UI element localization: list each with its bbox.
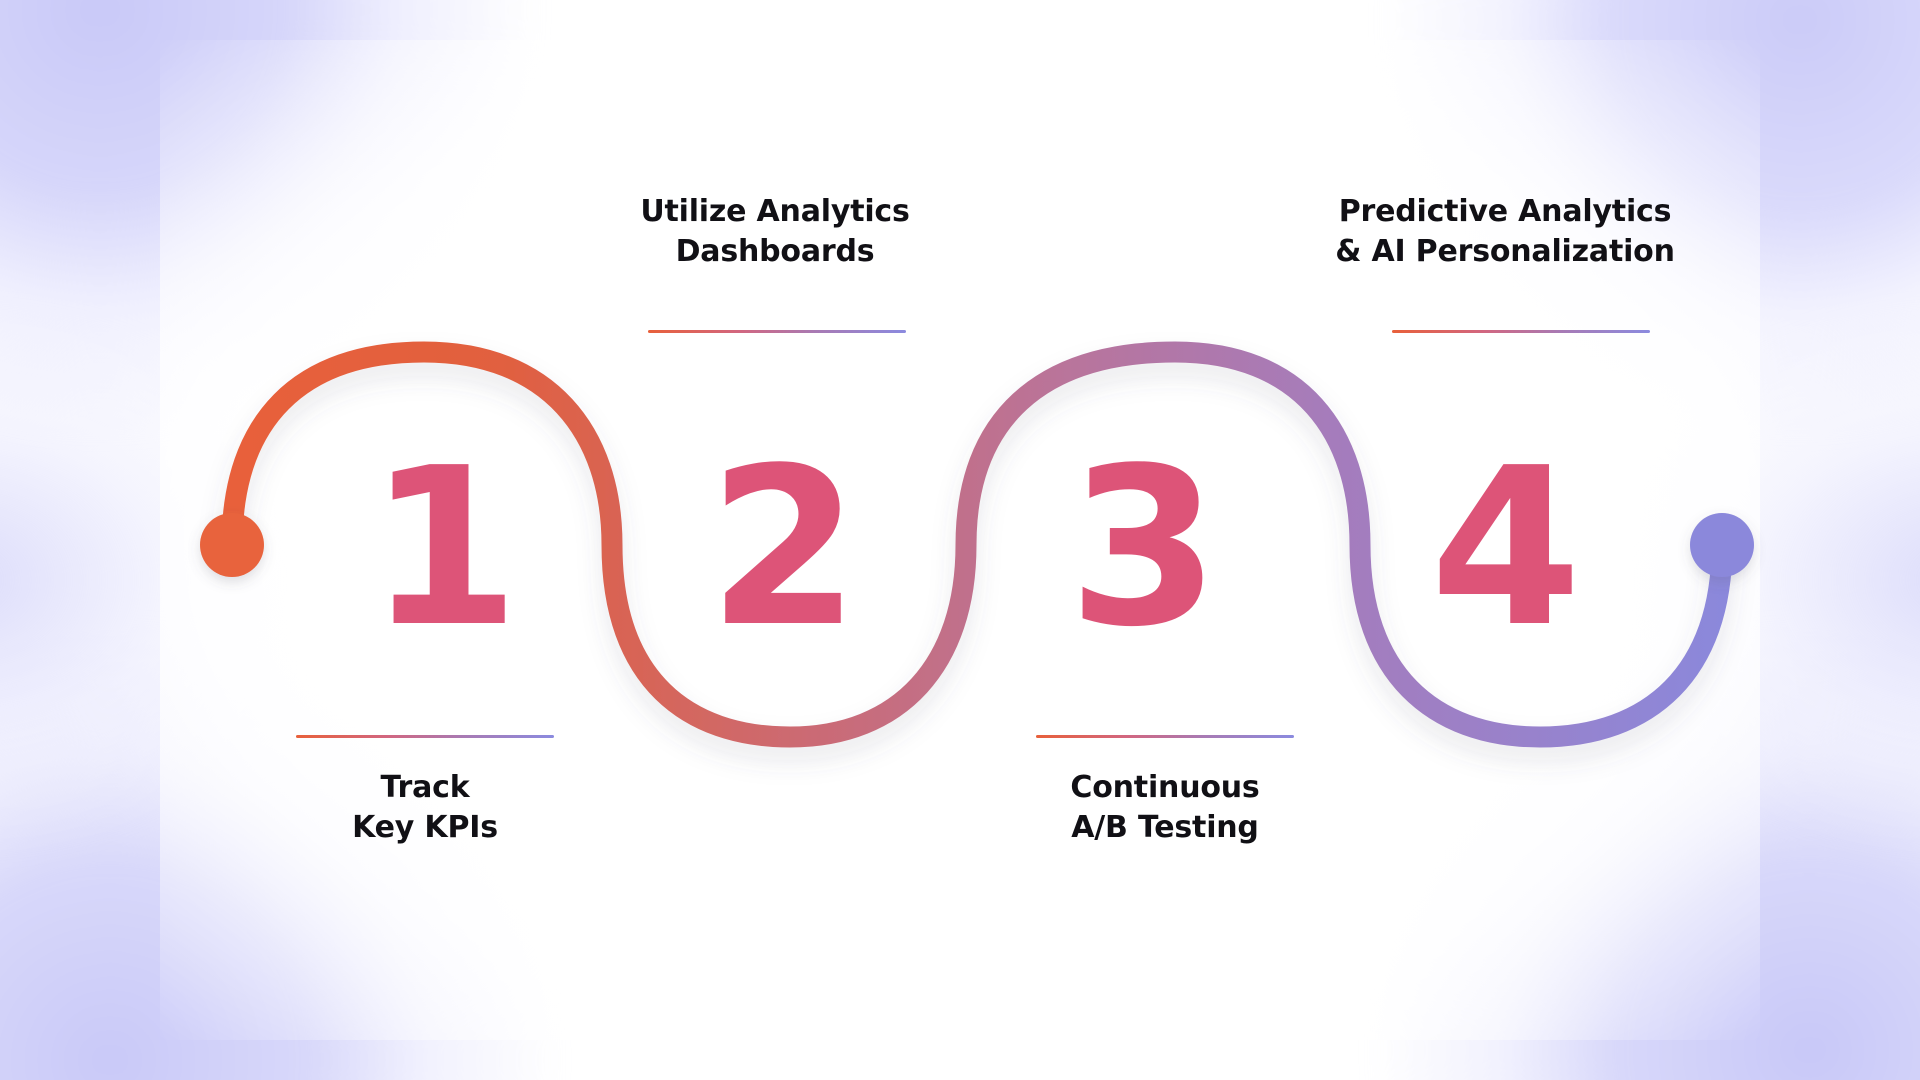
step-number-4: 4	[1430, 440, 1578, 658]
process-wave	[0, 0, 1920, 1080]
step-label-3-line1: Continuous	[1070, 770, 1259, 805]
divider-step-3	[1036, 735, 1294, 738]
step-label-1: Track Key KPIs	[250, 768, 600, 848]
step-label-2-line2: Dashboards	[600, 232, 950, 272]
divider-step-4	[1392, 330, 1650, 333]
step-number-1: 1	[368, 440, 516, 658]
step-number-2: 2	[708, 440, 856, 658]
step-label-4-line2: & AI Personalization	[1330, 232, 1680, 272]
step-label-2: Utilize Analytics Dashboards	[600, 192, 950, 272]
step-label-2-line1: Utilize Analytics	[640, 194, 909, 229]
step-number-3: 3	[1068, 440, 1216, 658]
step-label-1-line2: Key KPIs	[250, 808, 600, 848]
step-label-4: Predictive Analytics & AI Personalizatio…	[1330, 192, 1680, 272]
background-glow-top-left	[0, 0, 540, 440]
start-dot	[200, 513, 264, 577]
background-glow-bottom-right	[1370, 620, 1920, 1080]
divider-step-1	[296, 735, 554, 738]
background-glow-mid-right	[1580, 300, 1920, 860]
step-label-1-line1: Track	[381, 770, 470, 805]
infographic-canvas: 1 2 3 4 Track Key KPIs Utilize Analytics…	[0, 0, 1920, 1080]
background-glow-bottom-left	[0, 620, 560, 1080]
divider-step-2	[648, 330, 906, 333]
step-label-3-line2: A/B Testing	[990, 808, 1340, 848]
step-label-3: Continuous A/B Testing	[990, 768, 1340, 848]
end-dot	[1690, 513, 1754, 577]
step-label-4-line1: Predictive Analytics	[1339, 194, 1672, 229]
